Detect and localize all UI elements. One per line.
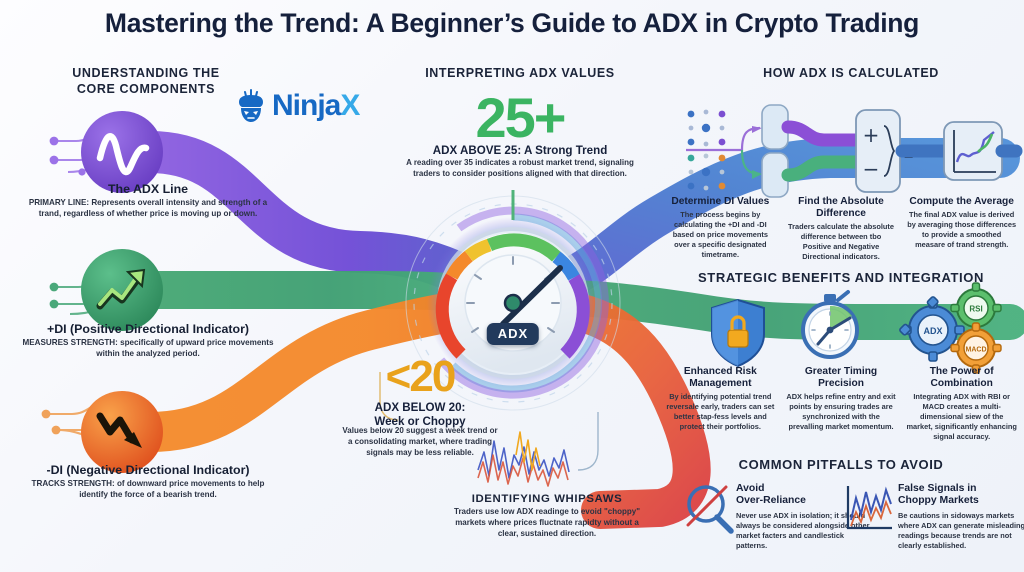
core-component-minus-di[interactable]: -DI (Negative Directional Indicator) TRA… [22,461,274,501]
step-body: The final ADX value is derived by averag… [906,210,1017,249]
down-arrow-chart-icon [100,416,142,448]
benefit-item-risk[interactable]: Enhanced Risk Management By identifying … [660,366,781,442]
pitfall-body: Never use ADX in isolation; it should al… [736,511,876,551]
logo-text-ninja: Ninja [272,89,340,122]
left-heading-line-1: UNDERSTANDING THE [32,66,260,82]
step-title: Determine DI Values [665,196,776,208]
adx-wave-icon [100,136,146,172]
node-body: TRACKS STRENGTH: of downward price movem… [22,479,274,501]
center-section-heading: INTERPRETING ADX VALUES [398,66,642,82]
dot-grid-icon [688,154,726,191]
adx-weak-body: Values below 20 suggest a week trend or … [340,426,500,459]
dot-grid-icon [688,110,726,147]
pitfall-title-line-1: Avoid [736,483,876,495]
line-chart-box-icon [944,122,1002,180]
core-component-adx-line[interactable]: The ADX Line PRIMARY LINE: Represents ov… [22,180,274,220]
plus-minus-sigma-icon [856,110,900,192]
step-title: Find the Absolute Difference [786,196,897,220]
benefit-title: Enhanced Risk Management [665,366,776,390]
gauge-adx-badge: ADX [487,323,539,345]
core-component-plus-di[interactable]: +DI (Positive Directional Indicator) MEA… [22,320,274,360]
benefit-item-combination[interactable]: The Power of Combination Integrating ADX… [901,366,1022,442]
pitfall-title-line-2: Choppy Markets [898,495,1024,507]
pitfall-item-over-reliance[interactable]: Avoid Over-Reliance Never use ADX in iso… [736,483,876,551]
logo-text-x: X [340,89,359,122]
ninjax-logo[interactable]: NinjaX [233,88,359,124]
node-body: PRIMARY LINE: Represents overall intensi… [22,198,274,220]
gauge-needle [503,268,560,324]
svg-text:−: − [863,157,880,181]
calculation-heading: HOW ADX IS CALCULATED [692,66,1010,82]
benefit-item-timing[interactable]: Greater Timing Precision ADX helps refin… [781,366,902,442]
calculation-step[interactable]: Determine DI Values The process begins b… [660,196,781,262]
node-title: -DI (Negative Directional Indicator) [22,463,274,477]
pitfalls-heading: COMMON PITFALLS TO AVOID [660,457,1022,473]
pitfall-item-false-signals[interactable]: False Signals in Choppy Markets Be cauti… [898,483,1024,551]
magnifier-slash-icon [688,487,731,531]
calculation-steps: Determine DI Values The process begins b… [660,196,1022,262]
svg-text:MACD: MACD [966,347,987,354]
benefit-title: The Power of Combination [906,366,1017,390]
benefit-title: Greater Timing Precision [786,366,897,390]
benefits-heading: STRATEGIC BENEFITS AND INTEGRATION [660,270,1022,286]
svg-text:RSI: RSI [969,305,982,314]
benefits-items: Enhanced Risk Management By identifying … [660,366,1022,442]
adx-strong-value: 25+ [398,90,642,146]
svg-text:Σ: Σ [903,143,914,163]
node-title: The ADX Line [22,182,274,196]
pitfall-body: Be cautions in sidoways markets where AD… [898,511,1024,551]
pitfall-title: False Signals in Choppy Markets [898,483,1024,508]
infographic-canvas: + − Σ [0,0,1024,572]
pitfall-title-line-2: Over-Reliance [736,495,876,507]
pitfall-title-line-1: False Signals in [898,483,1024,495]
whipsaws-body: Traders use low ADX readinge to evoid "c… [452,507,642,540]
adx-weak-value: <20 [332,355,508,399]
adx-weak-title-line-1: ADX BELOW 20: [338,401,502,415]
gears-icon: ADX RSI MACD [899,283,1001,373]
shield-lock-icon [712,300,764,366]
step-body: Traders calculate the absolute differenc… [786,222,897,261]
whipsaws-title: IDENTIFYING WHIPSAWS [452,492,642,506]
adx-strong-title: ADX ABOVE 25: A Strong Trend [398,144,642,158]
benefit-body: Integrating ADX with RBI or MACD creates… [906,392,1017,441]
node-body: MEASURES STRENGTH: specifically of upwar… [22,338,274,360]
calculation-step[interactable]: Find the Absolute Difference Traders cal… [781,196,902,262]
adx-strong-body: A reading over 35 indicates a robust mar… [404,158,636,180]
svg-text:ADX: ADX [923,326,942,336]
benefit-body: By identifying potential trend reversale… [665,392,776,431]
benefit-body: ADX helps refine entry and exit points b… [786,392,897,431]
calculation-flow-diagram: + − Σ [686,105,1016,197]
up-arrow-chart-icon [100,270,144,306]
left-heading-line-2: CORE COMPONENTS [32,82,260,98]
pitfall-title: Avoid Over-Reliance [736,483,876,508]
svg-text:+: + [863,123,880,147]
left-section-heading: UNDERSTANDING THE CORE COMPONENTS [32,66,260,97]
step-body: The process begins by calculating the +D… [665,210,776,259]
stopwatch-icon [803,292,857,357]
rounded-box-icon [762,105,788,149]
rounded-box-icon [762,153,788,197]
step-title: Compute the Average [906,196,1017,208]
node-title: +DI (Positive Directional Indicator) [22,322,274,336]
calculation-step[interactable]: Compute the Average The final ADX value … [901,196,1022,262]
page-title: Mastering the Trend: A Beginner’s Guide … [0,8,1024,39]
ninja-helmet-icon [233,88,269,124]
gauge-label-wrap: ADX [438,323,588,353]
